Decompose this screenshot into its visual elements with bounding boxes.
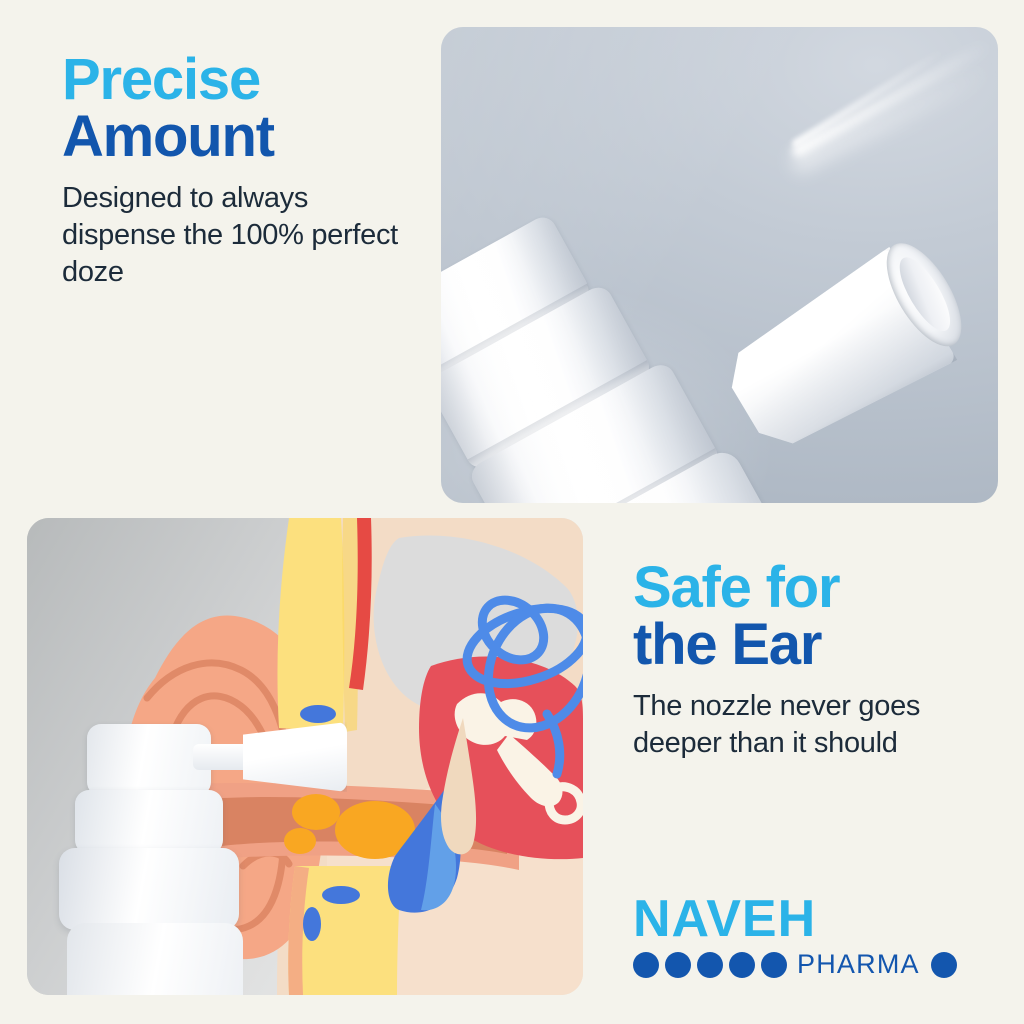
feature-body-text: Designed to always dispense the 100% per… bbox=[62, 180, 422, 291]
headline-line-1: Safe for bbox=[633, 560, 963, 617]
feature-text-safe-for-the-ear: Safe for the Ear The nozzle never goes d… bbox=[633, 560, 963, 762]
brand-logo: NAVEH PHARMA bbox=[633, 893, 925, 978]
feature-text-precise-amount: Precise Amount Designed to always dispen… bbox=[62, 52, 422, 291]
ear-anatomy-diagram bbox=[27, 518, 583, 995]
brand-name: NAVEH bbox=[633, 893, 925, 945]
bottle-ring bbox=[59, 848, 239, 930]
logo-dot bbox=[761, 952, 787, 978]
logo-dot bbox=[697, 952, 723, 978]
logo-dot bbox=[633, 952, 659, 978]
infographic-canvas: Precise Amount Designed to always dispen… bbox=[0, 0, 1024, 1024]
headline-line-1: Precise bbox=[62, 52, 422, 109]
bottle-body bbox=[67, 923, 243, 995]
logo-dot bbox=[729, 952, 755, 978]
spray-bottle-icon bbox=[43, 718, 283, 995]
bottle-ring bbox=[75, 790, 223, 854]
spray-nozzle-photo bbox=[441, 27, 998, 503]
logo-dot bbox=[931, 952, 957, 978]
feature-headline: Safe for the Ear bbox=[633, 560, 963, 674]
feature-body-text: The nozzle never goes deeper than it sho… bbox=[633, 688, 963, 762]
feature-headline: Precise Amount bbox=[62, 52, 422, 166]
brand-sub-row: PHARMA bbox=[633, 951, 925, 978]
logo-dot bbox=[665, 952, 691, 978]
headline-line-2: Amount bbox=[62, 109, 422, 166]
headline-line-2: the Ear bbox=[633, 617, 963, 674]
brand-sub-name: PHARMA bbox=[797, 951, 920, 978]
nozzle-cone bbox=[243, 722, 347, 792]
